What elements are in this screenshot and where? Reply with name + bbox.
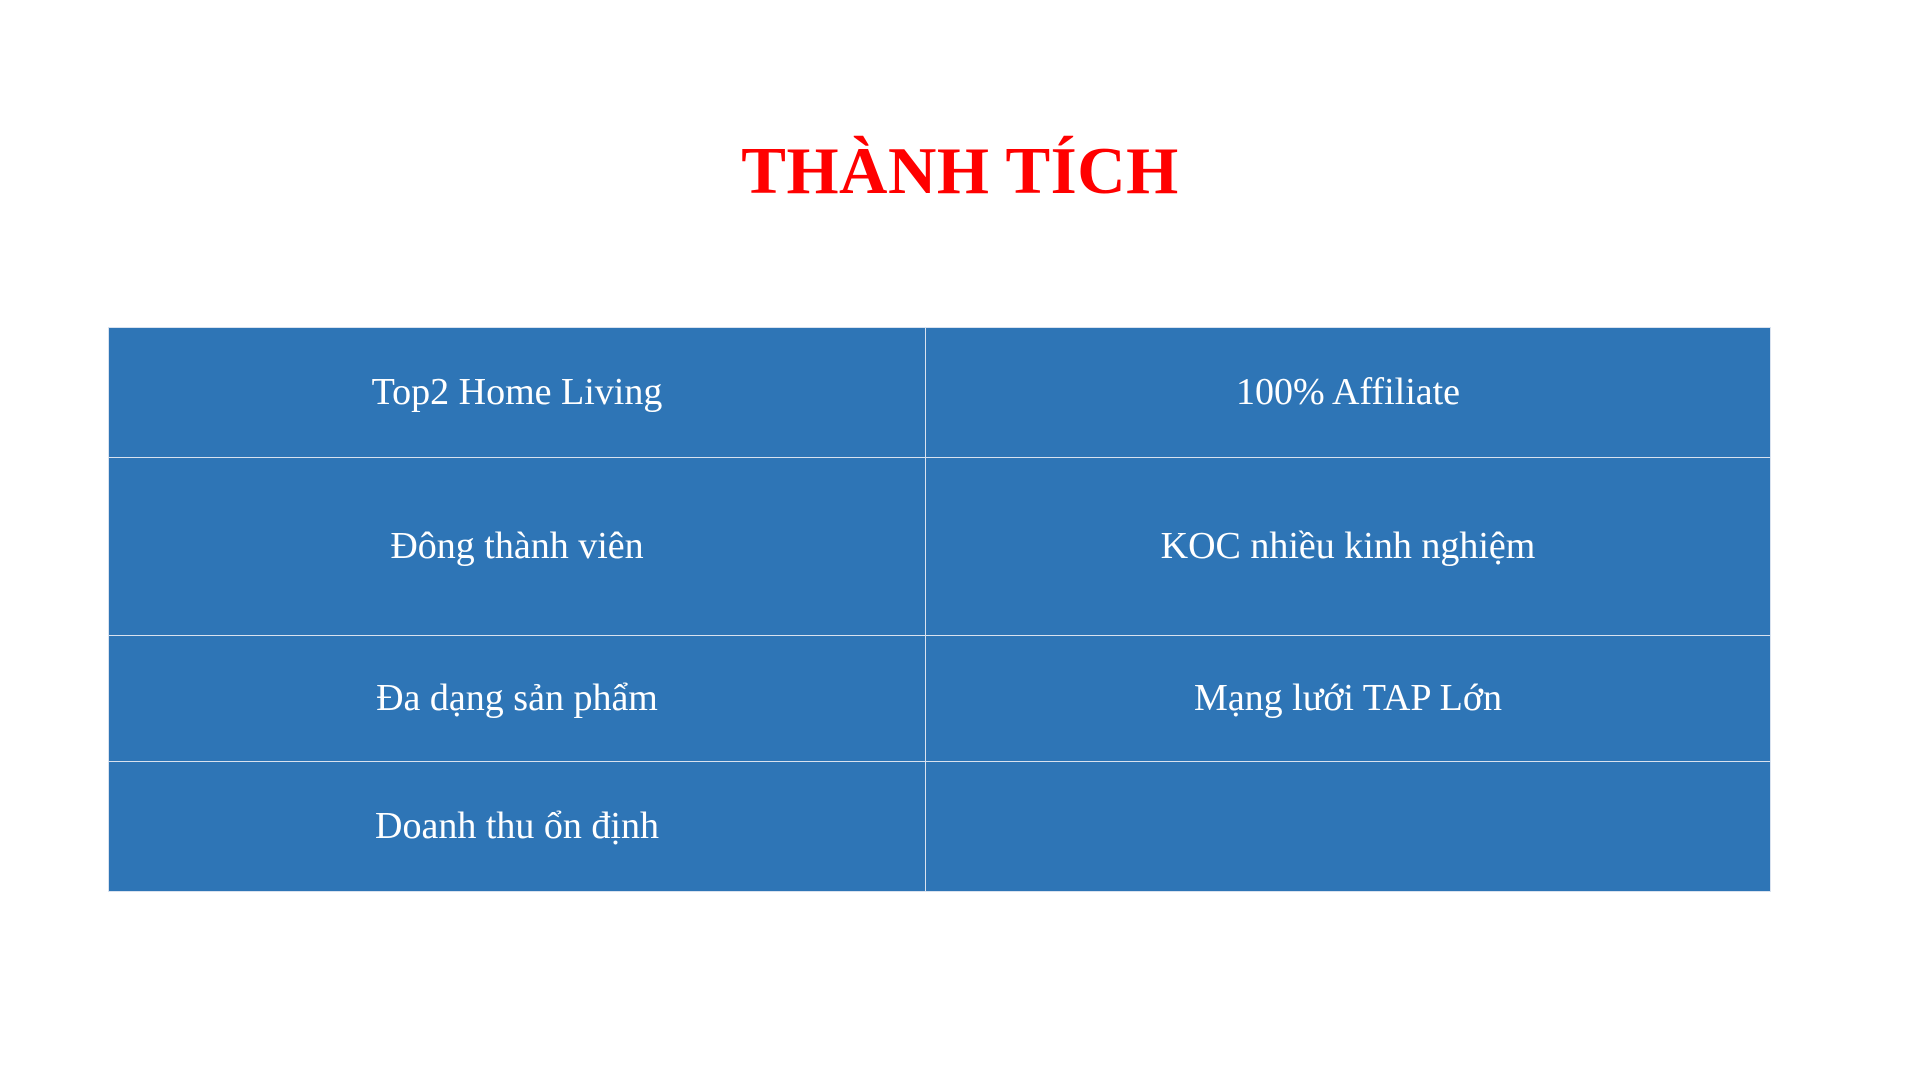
table-cell-r4-c1: Doanh thu ổn định	[109, 762, 926, 892]
table-cell-r3-c2: Mạng lưới TAP Lớn	[926, 636, 1771, 762]
table-row: Top2 Home Living 100% Affiliate	[109, 328, 1771, 458]
table-cell-r1-c1: Top2 Home Living	[109, 328, 926, 458]
table-cell-r3-c1: Đa dạng sản phẩm	[109, 636, 926, 762]
table-cell-r1-c2: 100% Affiliate	[926, 328, 1771, 458]
table-cell-r2-c2: KOC nhiều kinh nghiệm	[926, 458, 1771, 636]
table-cell-r2-c1: Đông thành viên	[109, 458, 926, 636]
table-cell-r4-c2	[926, 762, 1771, 892]
page-title: THÀNH TÍCH	[0, 131, 1920, 211]
table-row: Đông thành viên KOC nhiều kinh nghiệm	[109, 458, 1771, 636]
achievements-table: Top2 Home Living 100% Affiliate Đông thà…	[108, 327, 1771, 892]
slide-canvas: THÀNH TÍCH Top2 Home Living 100% Affilia…	[0, 0, 1920, 1080]
table-row: Đa dạng sản phẩm Mạng lưới TAP Lớn	[109, 636, 1771, 762]
table-row: Doanh thu ổn định	[109, 762, 1771, 892]
